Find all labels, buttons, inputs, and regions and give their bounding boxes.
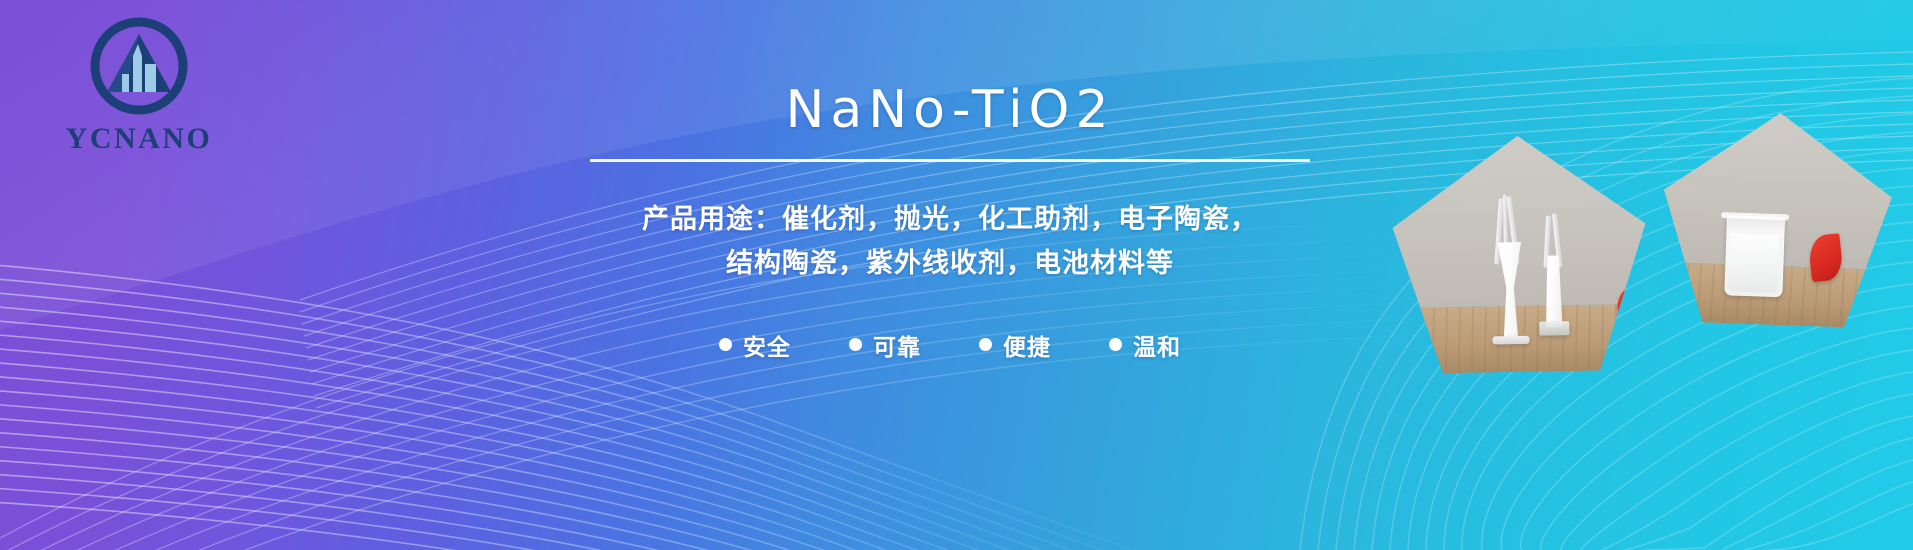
- product-banner: YCNANO NaNo-TiO2 产品用途：催化剂，抛光，化工助剂，电子陶瓷， …: [0, 0, 1913, 550]
- feature-item-convenient: 便捷: [979, 328, 1051, 362]
- white-vase-tall-base: [1492, 336, 1529, 345]
- feature-item-reliable: 可靠: [849, 328, 921, 362]
- white-liquid-beaker-photo: [1659, 109, 1894, 329]
- bullet-dot-icon: [1109, 338, 1122, 351]
- feature-label: 温和: [1133, 328, 1181, 362]
- ycnano-triangle-logo-icon: [85, 12, 193, 120]
- feature-label: 安全: [743, 328, 791, 362]
- feature-label: 便捷: [1003, 328, 1051, 362]
- product-description: 产品用途：催化剂，抛光，化工助剂，电子陶瓷， 结构陶瓷，紫外线收剂，电池材料等: [630, 198, 1270, 285]
- bullet-dot-icon: [979, 338, 992, 351]
- beaker-liquid: [1727, 233, 1779, 293]
- description-line-2: 结构陶瓷，紫外线收剂，电池材料等: [630, 242, 1270, 286]
- feature-label: 可靠: [873, 328, 921, 362]
- feature-item-mild: 温和: [1109, 328, 1181, 362]
- title-divider: [590, 159, 1310, 162]
- bullet-dot-icon: [719, 338, 732, 351]
- description-line-1: 产品用途：催化剂，抛光，化工助剂，电子陶瓷，: [630, 198, 1270, 242]
- brand-logo: YCNANO: [44, 12, 234, 156]
- banner-content: NaNo-TiO2 产品用途：催化剂，抛光，化工助剂，电子陶瓷， 结构陶瓷，紫外…: [470, 60, 1430, 362]
- white-vase-short-base: [1539, 321, 1569, 336]
- feature-item-safe: 安全: [719, 328, 791, 362]
- brand-wordmark: YCNANO: [44, 122, 234, 156]
- feature-list: 安全 可靠 便捷 温和: [470, 328, 1430, 362]
- bullet-dot-icon: [849, 338, 862, 351]
- page-title: NaNo-TiO2: [470, 60, 1430, 145]
